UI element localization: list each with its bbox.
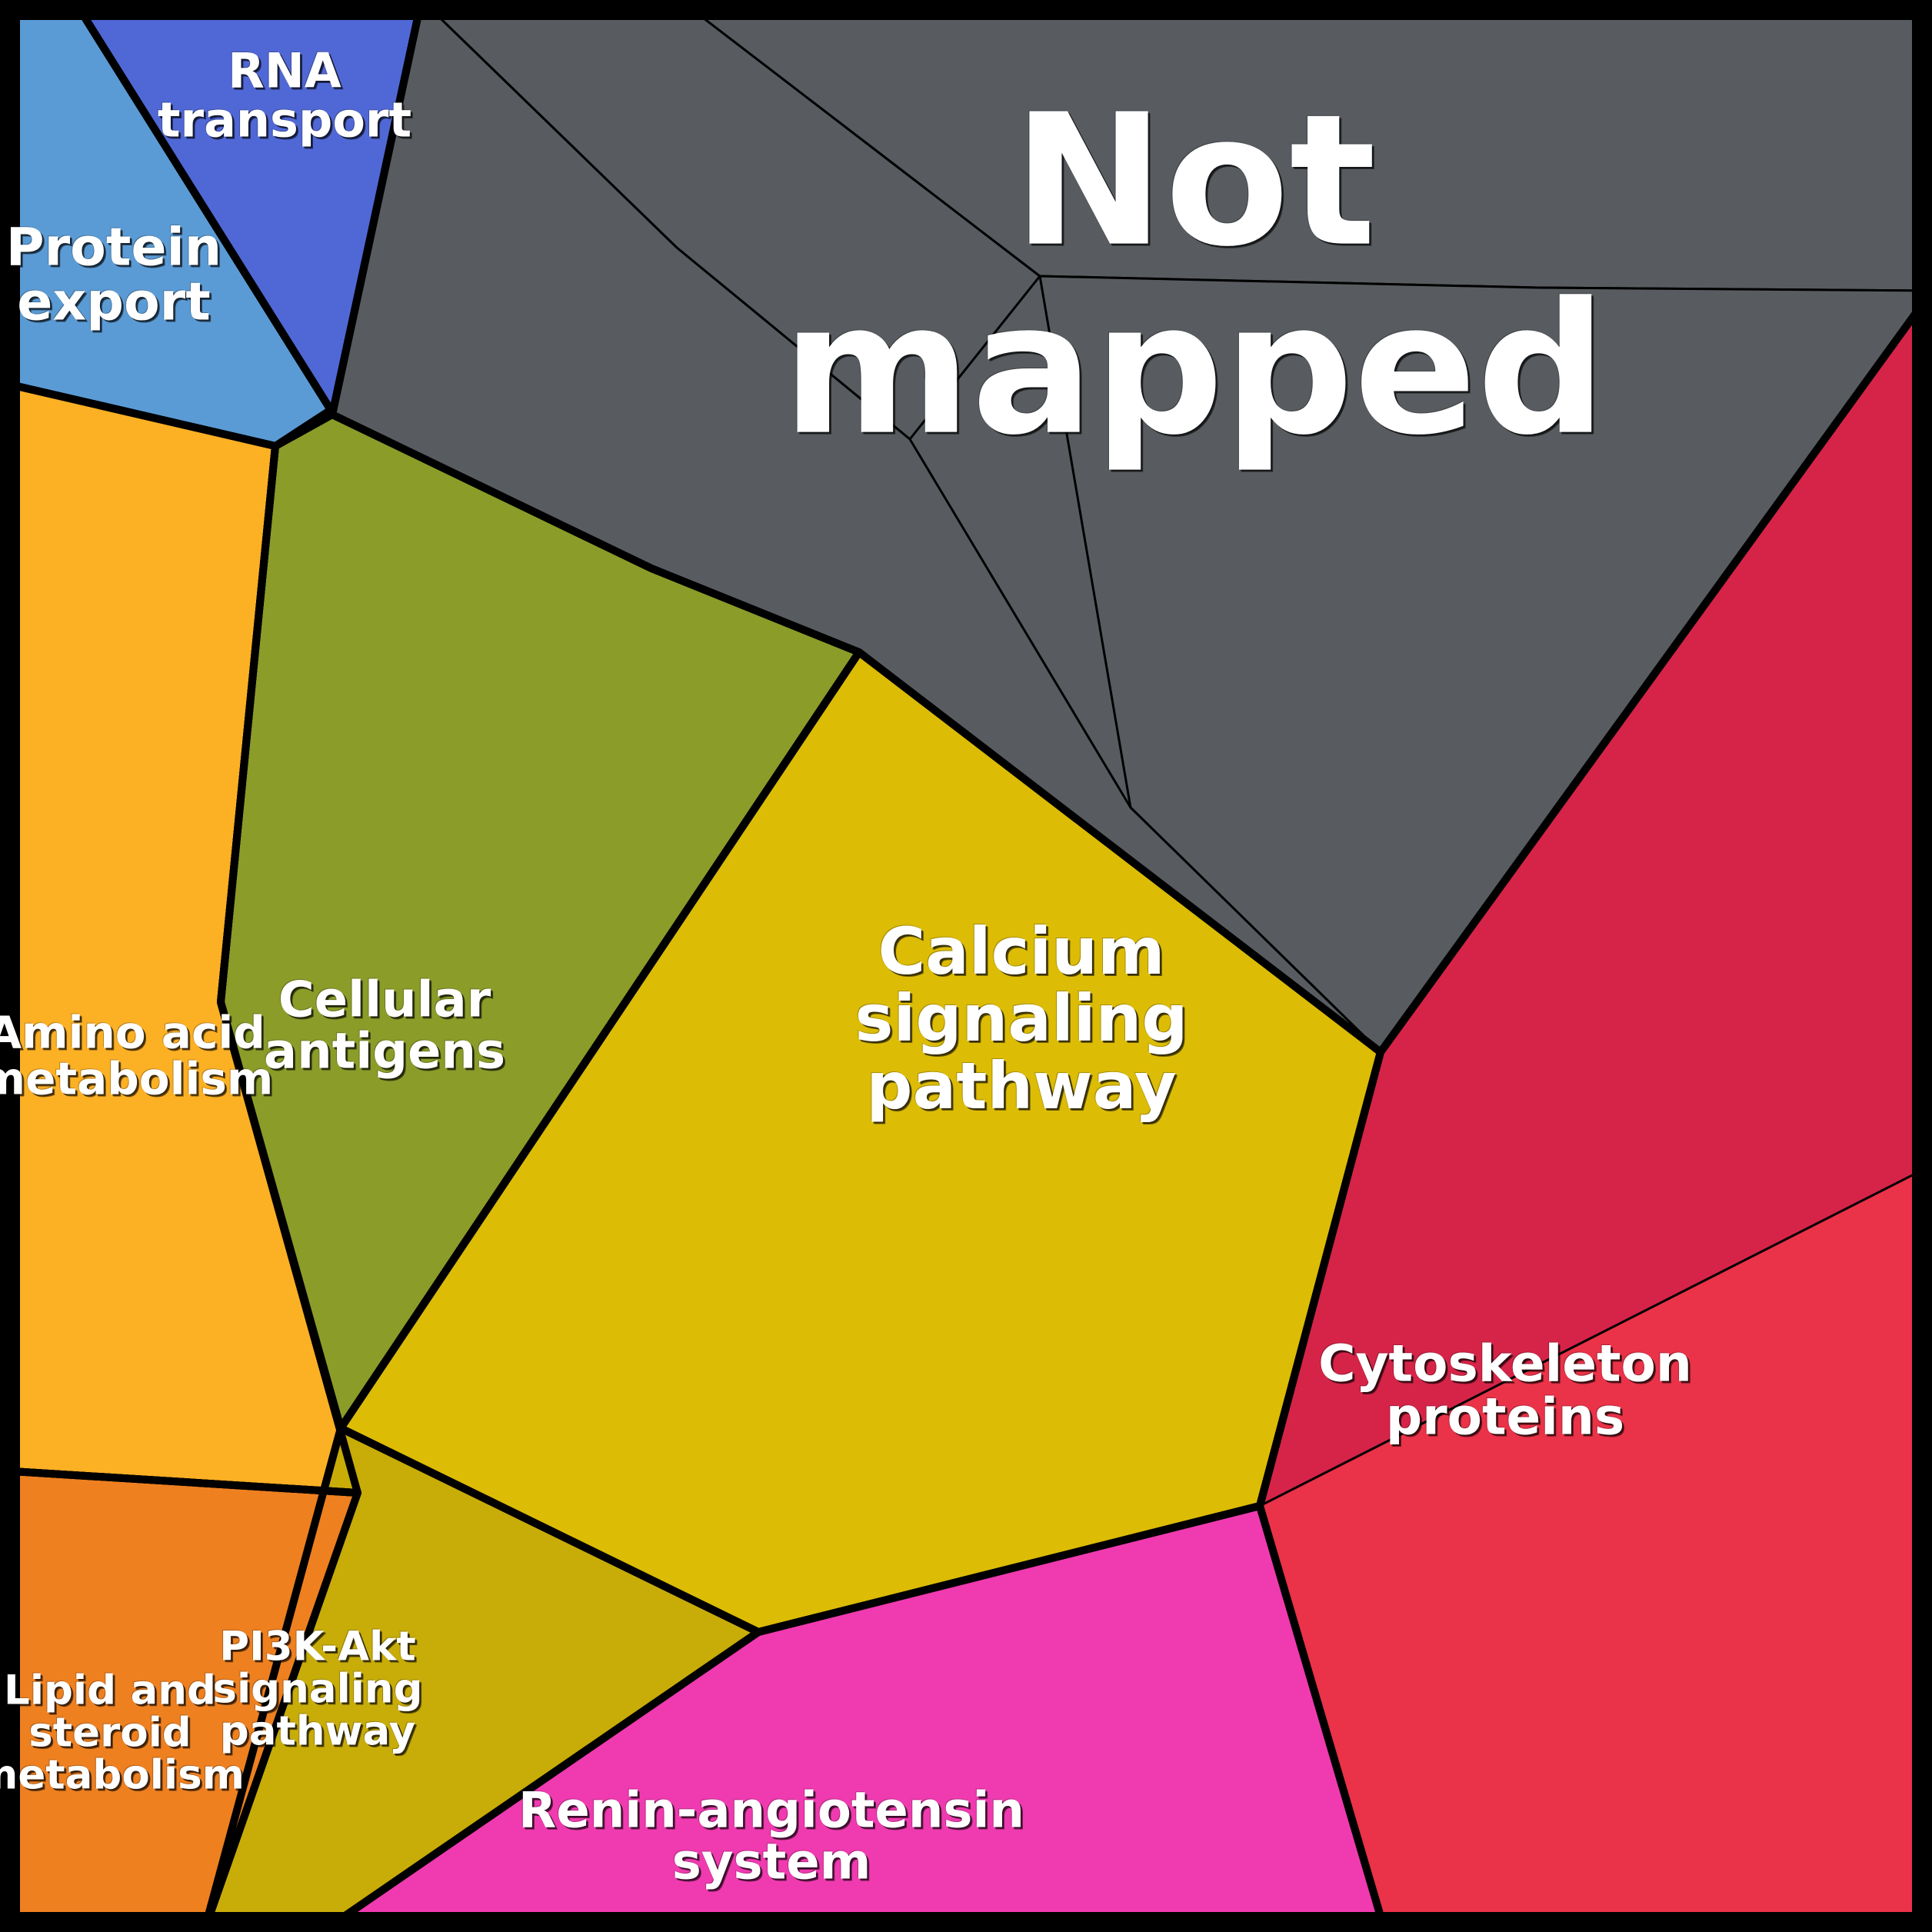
treemap-canvas	[0, 0, 1932, 1932]
voronoi-treemap-figure: Protein exportRNA transportNot mappedAmi…	[0, 0, 1932, 1932]
